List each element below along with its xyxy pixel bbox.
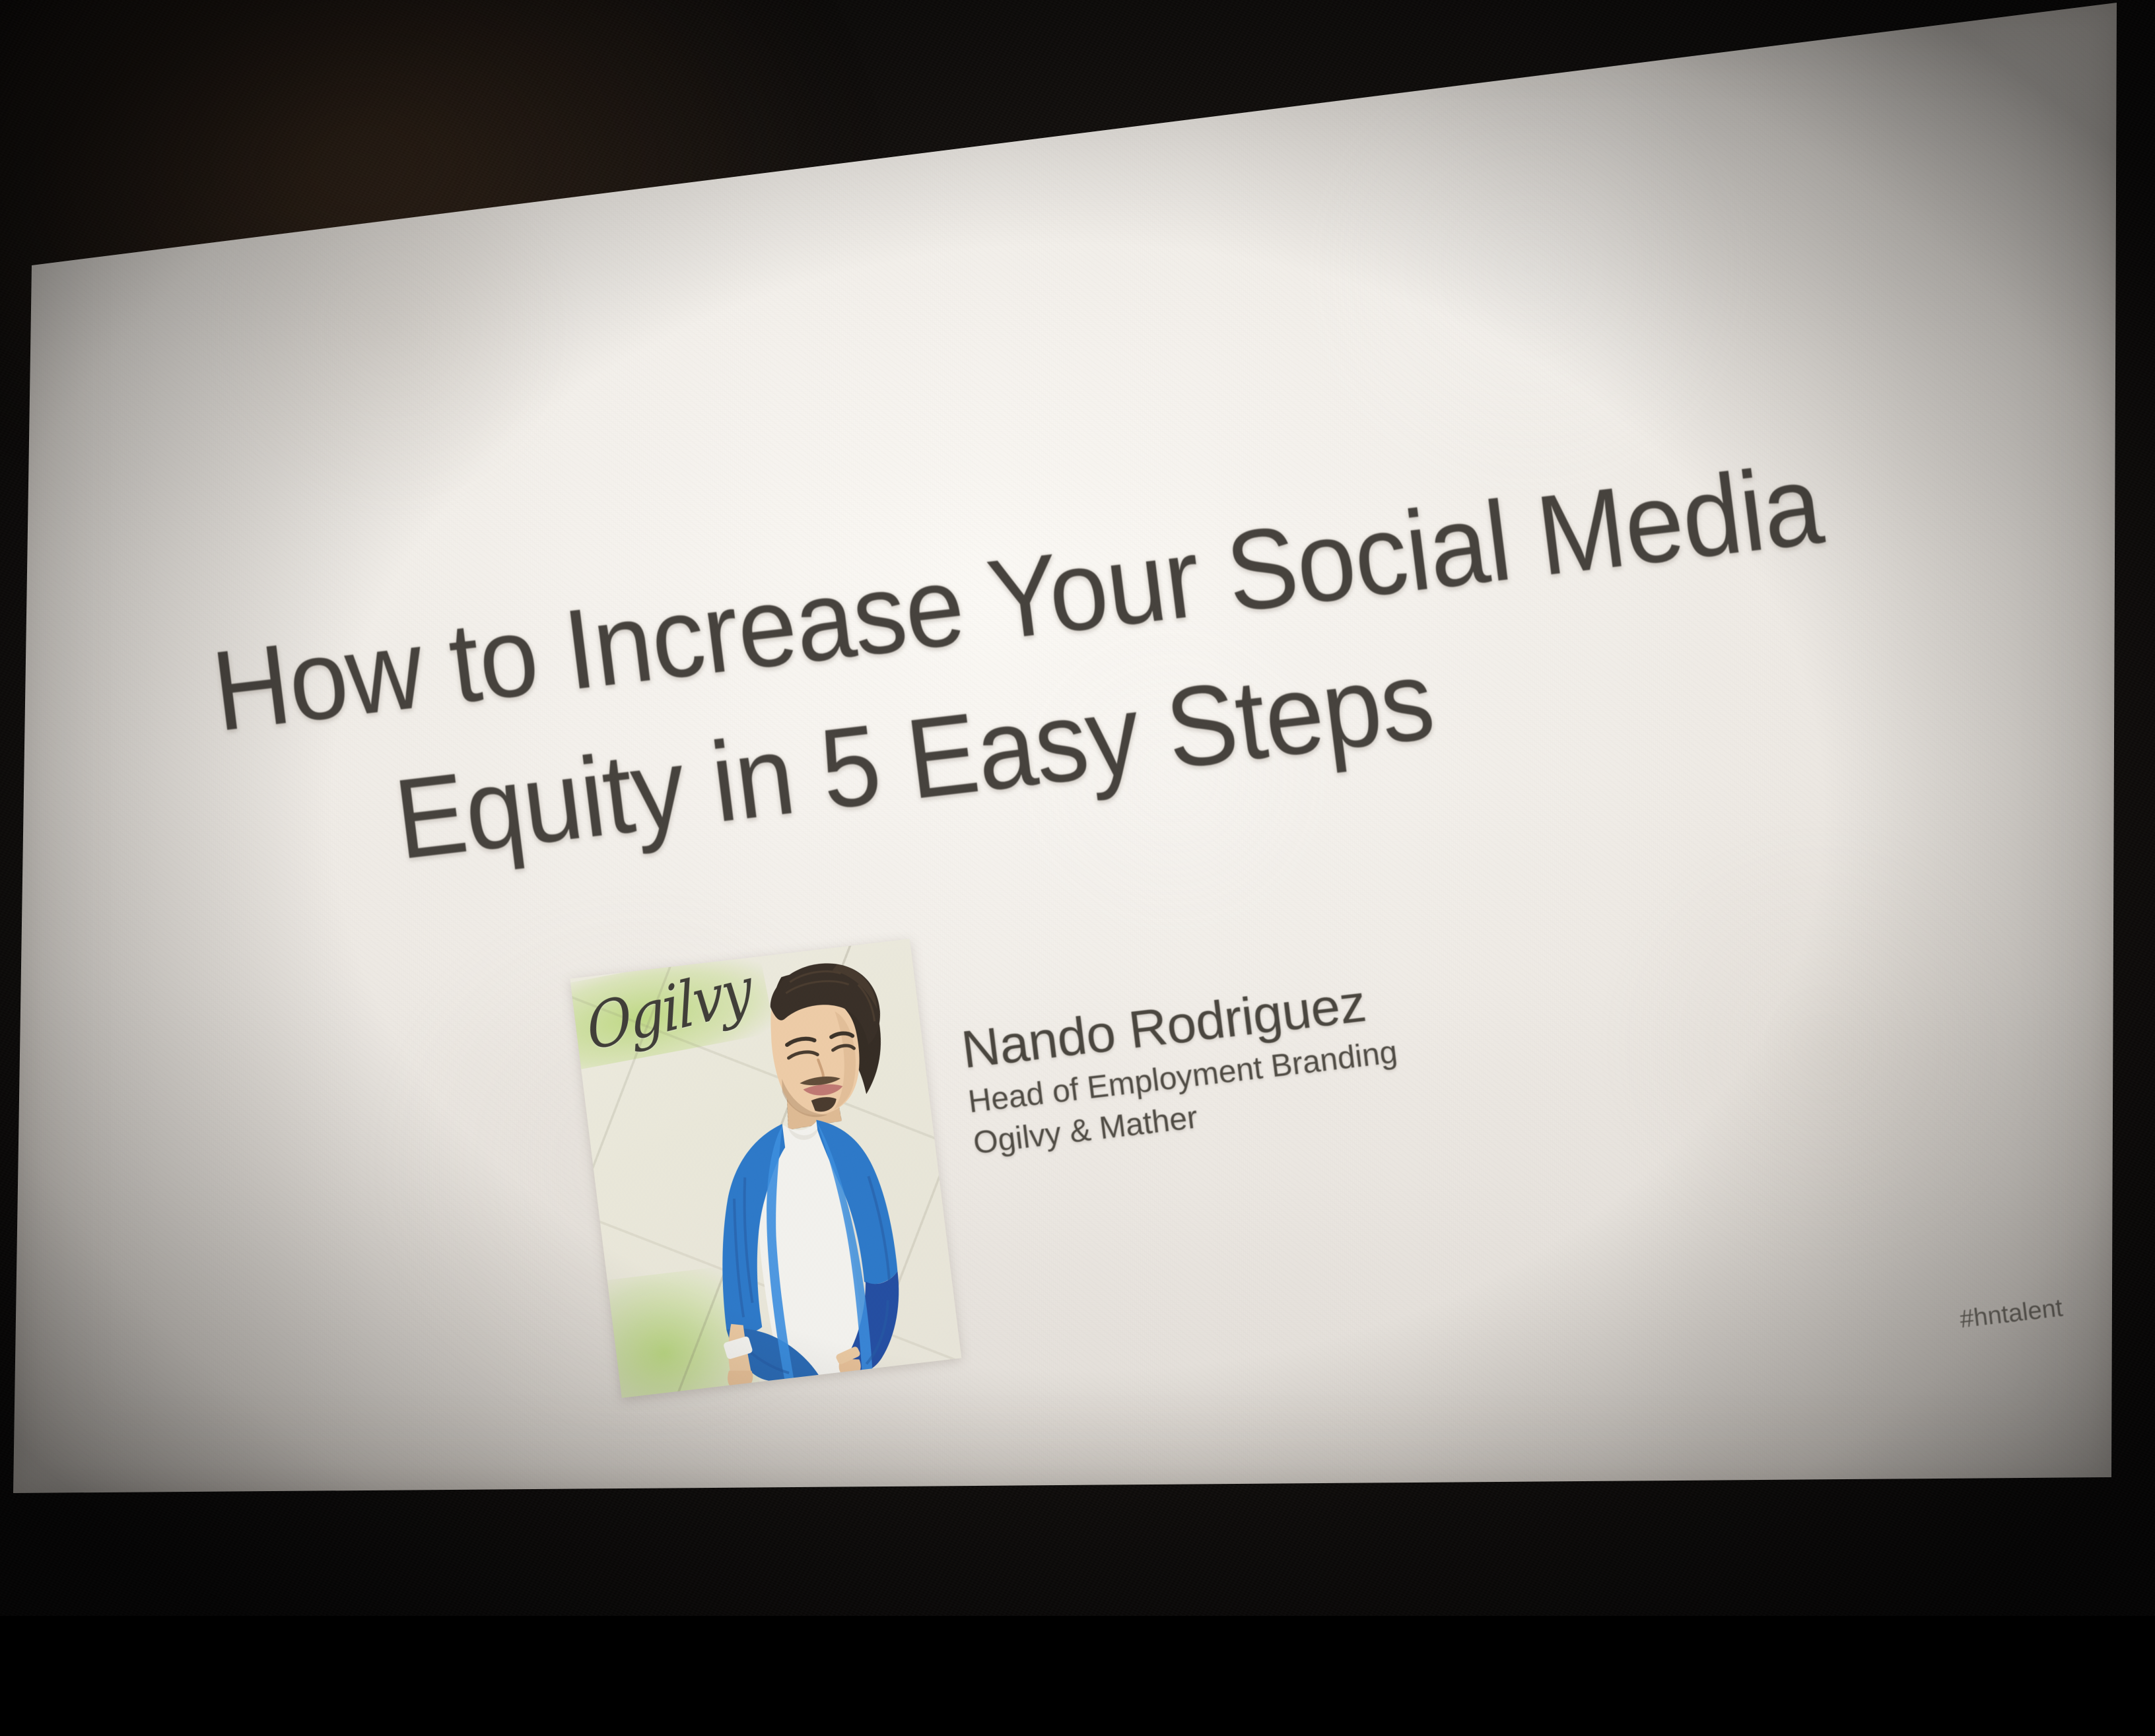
slide-content: How to Increase Your Social Media Equity… [0, 0, 2155, 1736]
portrait-figure-illustration [570, 939, 961, 1398]
speaker-portrait-image: Ogilvy [570, 939, 961, 1398]
projection-screen: How to Increase Your Social Media Equity… [0, 0, 2155, 1616]
event-hashtag: #hntalent [1958, 1294, 2065, 1334]
speaker-info-block: Nando Rodriguez Head of Employment Brand… [959, 972, 1405, 1164]
